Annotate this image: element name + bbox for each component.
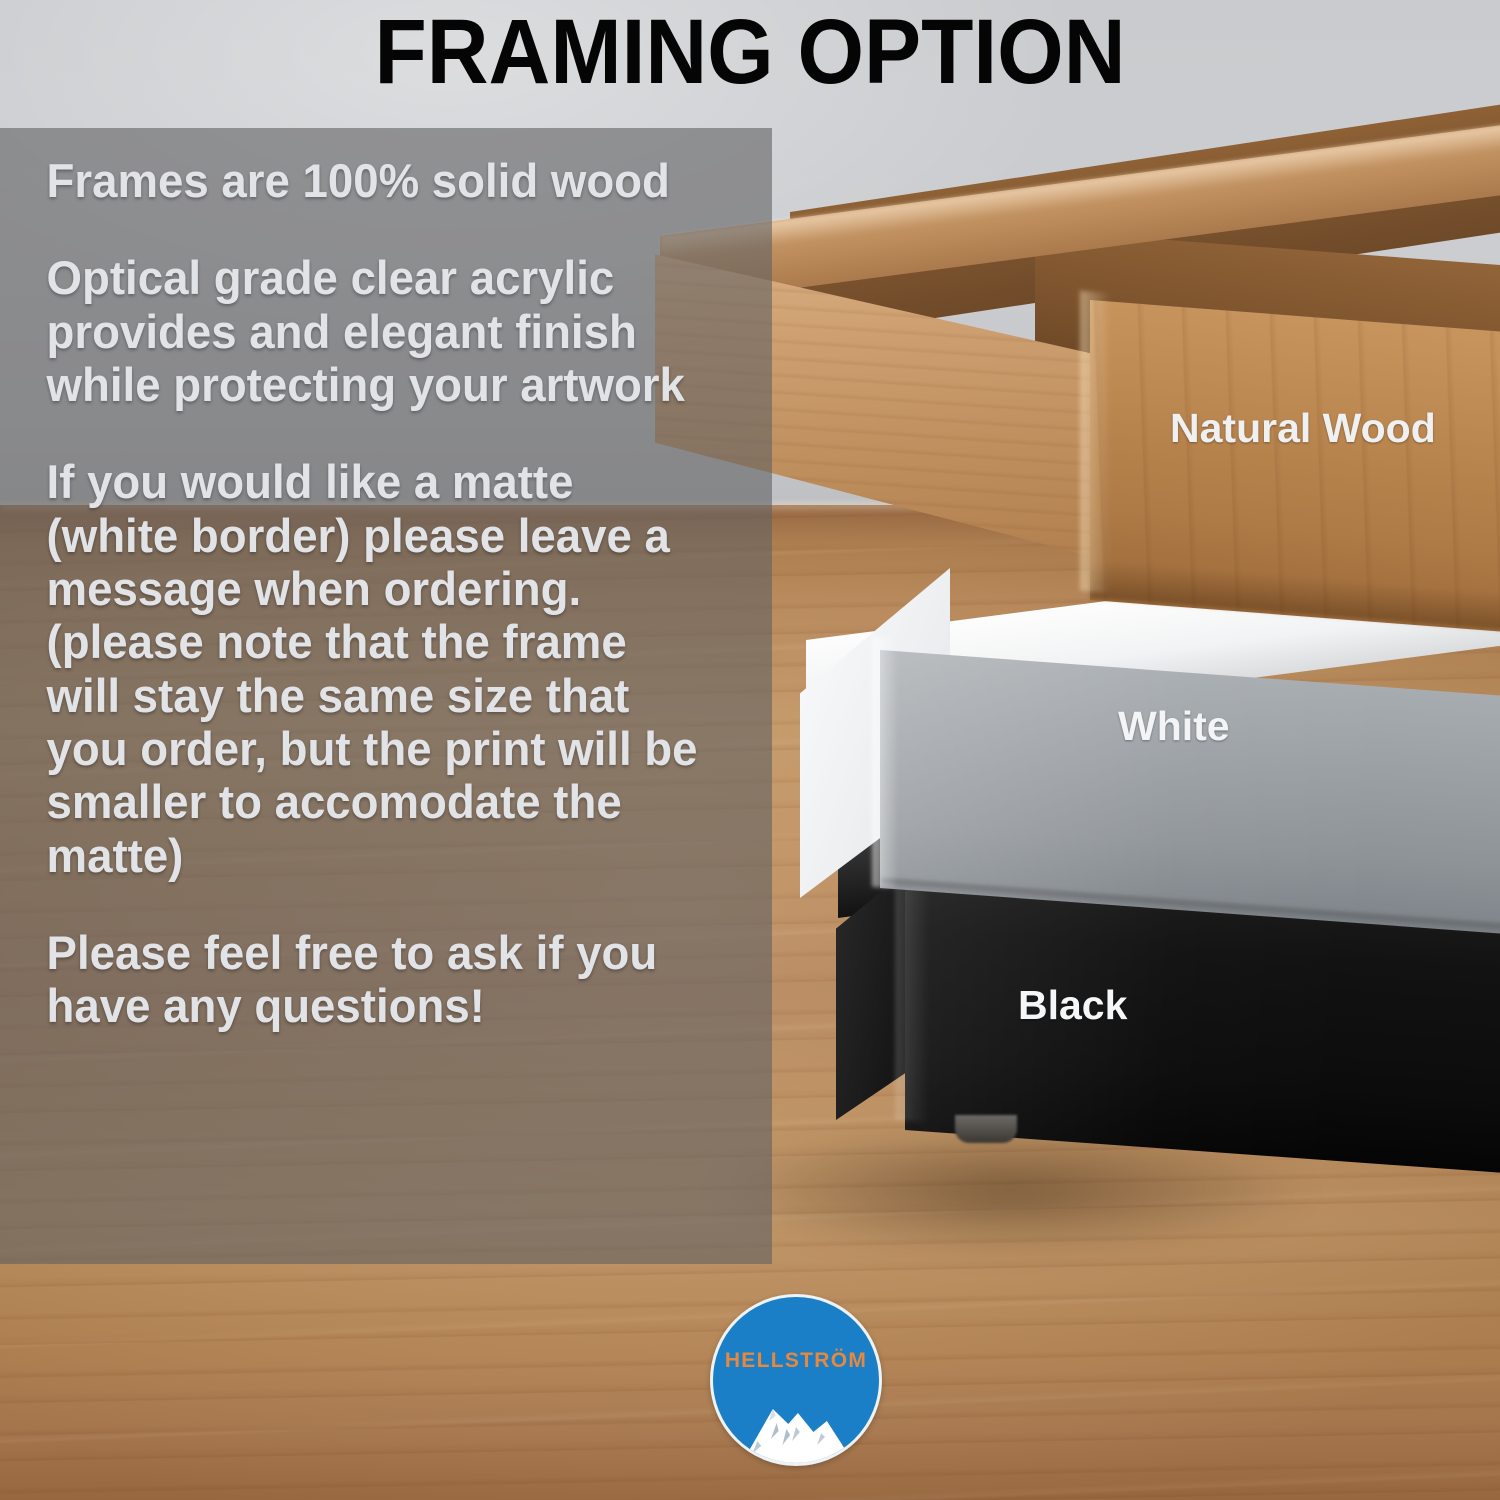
info-paragraph-3: If you would like a matte (white border)… [47,455,707,882]
brand-logo: HELLSTRÖM [710,1294,882,1466]
info-paragraph-1: Frames are 100% solid wood [47,154,707,207]
info-paragraph-4: Please feel free to ask if you have any … [47,926,707,1033]
brand-logo-text: HELLSTRÖM [713,1350,879,1371]
page-title: FRAMING OPTION [53,6,1448,98]
info-paragraph-2: Optical grade clear acrylic provides and… [47,251,707,411]
frame-white-corner-highlight [872,637,898,889]
frame-label-white: White [1118,703,1230,750]
mountain-icon [713,1371,879,1463]
frame-label-natural-wood: Natural Wood [1170,405,1436,452]
frame-label-black: Black [1018,982,1127,1029]
info-overlay-text: Frames are 100% solid wood Optical grade… [0,128,749,1264]
frame-wood-corner-highlight [1080,291,1110,594]
frame-black-foot [955,1115,1017,1143]
